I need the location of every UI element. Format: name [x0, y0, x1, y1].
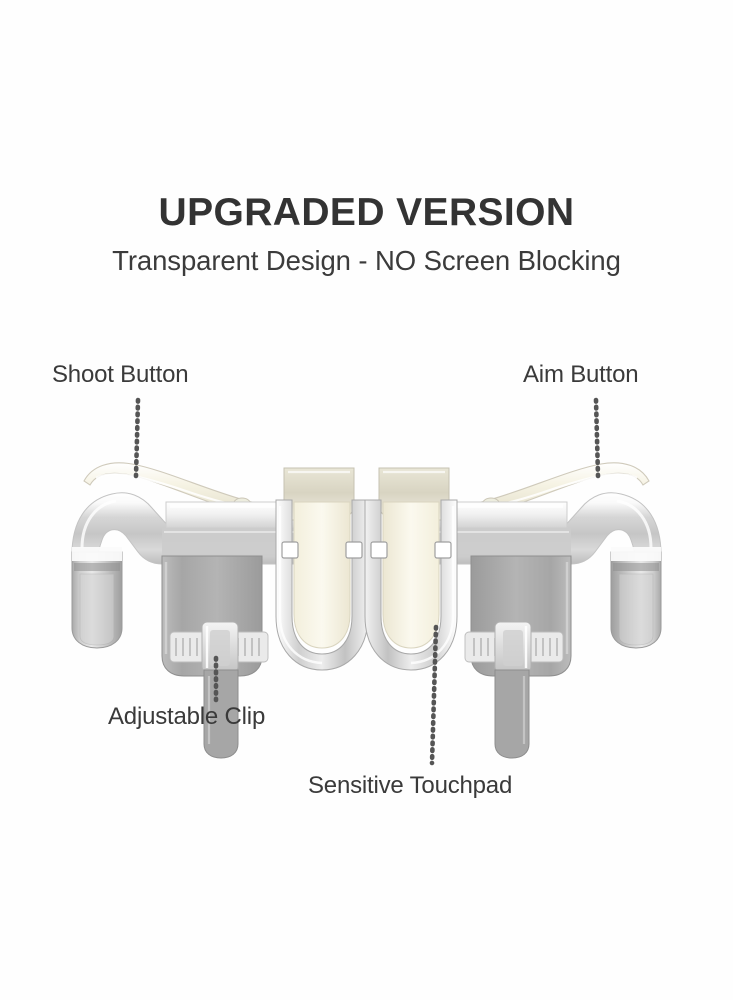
product-illustration: [0, 0, 733, 1000]
heading-block: UPGRADED VERSION Transparent Design - NO…: [0, 192, 733, 276]
infographic-page: UPGRADED VERSION Transparent Design - NO…: [0, 0, 733, 1000]
callout-label-adjustable-clip: Adjustable Clip: [108, 703, 265, 731]
callout-label-shoot-button: Shoot Button: [52, 361, 188, 389]
callout-label-aim-button: Aim Button: [523, 361, 638, 389]
leader-line-adjustable-clip: [196, 656, 236, 704]
leader-line-shoot-button: [118, 398, 158, 480]
page-title: UPGRADED VERSION: [0, 192, 733, 234]
leader-line-aim-button: [578, 398, 618, 480]
trigger-unit-right: [365, 463, 661, 758]
callout-label-sensitive-touchpad: Sensitive Touchpad: [308, 772, 512, 800]
page-subtitle: Transparent Design - NO Screen Blocking: [0, 246, 733, 276]
leader-line-sensitive-touchpad: [414, 625, 454, 767]
